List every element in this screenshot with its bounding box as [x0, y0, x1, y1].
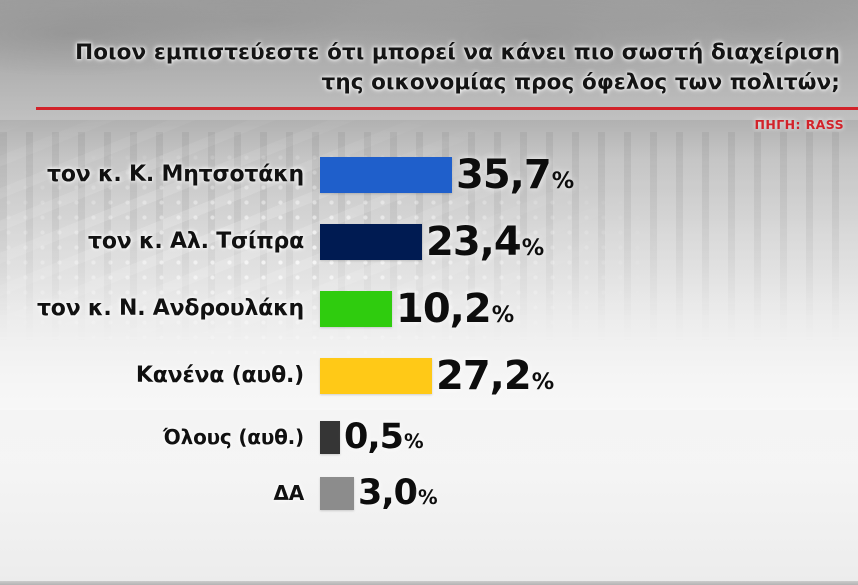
poll-row-label: Όλους (αυθ.) — [0, 425, 320, 449]
poll-graphic: Ποιον εμπιστεύεστε ότι μπορεί να κάνει π… — [0, 0, 858, 585]
poll-row-value-number: 0,5 — [344, 417, 403, 457]
poll-row-label: τον κ. Ν. Ανδρουλάκη — [0, 296, 320, 321]
poll-row-value-number: 23,4 — [426, 219, 521, 265]
poll-row-value-number: 35,7 — [456, 152, 551, 198]
poll-row: Όλους (αυθ.)0,5% — [0, 409, 858, 465]
poll-question-line-2: της οικονομίας προς όφελος των πολιτών; — [40, 68, 840, 98]
poll-row-value: 10,2% — [392, 289, 514, 329]
poll-row: τον κ. Ν. Ανδρουλάκη10,2% — [0, 275, 858, 342]
poll-row-value: 3,0% — [354, 476, 438, 511]
poll-row-percent-sign: % — [521, 235, 544, 261]
poll-row-bar — [320, 477, 354, 510]
poll-row-label: τον κ. Αλ. Τσίπρα — [0, 229, 320, 254]
poll-row: Κανένα (αυθ.)27,2% — [0, 342, 858, 409]
poll-row-value: 0,5% — [340, 420, 424, 455]
poll-row-value-number: 3,0 — [358, 473, 417, 513]
poll-row-percent-sign: % — [551, 168, 574, 194]
poll-question: Ποιον εμπιστεύεστε ότι μπορεί να κάνει π… — [40, 38, 840, 98]
poll-row-value-number: 27,2 — [436, 353, 531, 399]
poll-row-percent-sign: % — [531, 369, 554, 395]
poll-row: τον κ. Αλ. Τσίπρα23,4% — [0, 208, 858, 275]
poll-row-bar — [320, 421, 340, 454]
poll-results-list: τον κ. Κ. Μητσοτάκη35,7%τον κ. Αλ. Τσίπρ… — [0, 141, 858, 521]
poll-row-value: 27,2% — [432, 356, 554, 396]
poll-row-percent-sign: % — [417, 486, 438, 509]
poll-row-bar — [320, 157, 452, 193]
source-label: ΠΗΓΗ: RASS — [755, 117, 844, 132]
poll-row-bar — [320, 358, 432, 394]
poll-question-line-1: Ποιον εμπιστεύεστε ότι μπορεί να κάνει π… — [40, 38, 840, 68]
poll-row-value-number: 10,2 — [396, 286, 491, 332]
poll-row-value: 23,4% — [422, 222, 544, 262]
red-divider-rule — [36, 107, 858, 110]
poll-row-percent-sign: % — [491, 302, 514, 328]
poll-row-label: ΔΑ — [0, 481, 320, 505]
poll-row-label: Κανένα (αυθ.) — [0, 363, 320, 388]
poll-row-percent-sign: % — [403, 430, 424, 453]
poll-row-label: τον κ. Κ. Μητσοτάκη — [0, 162, 320, 187]
poll-row-value: 35,7% — [452, 155, 574, 195]
poll-row: ΔΑ3,0% — [0, 465, 858, 521]
poll-row: τον κ. Κ. Μητσοτάκη35,7% — [0, 141, 858, 208]
poll-row-bar — [320, 224, 422, 260]
poll-row-bar — [320, 291, 392, 327]
